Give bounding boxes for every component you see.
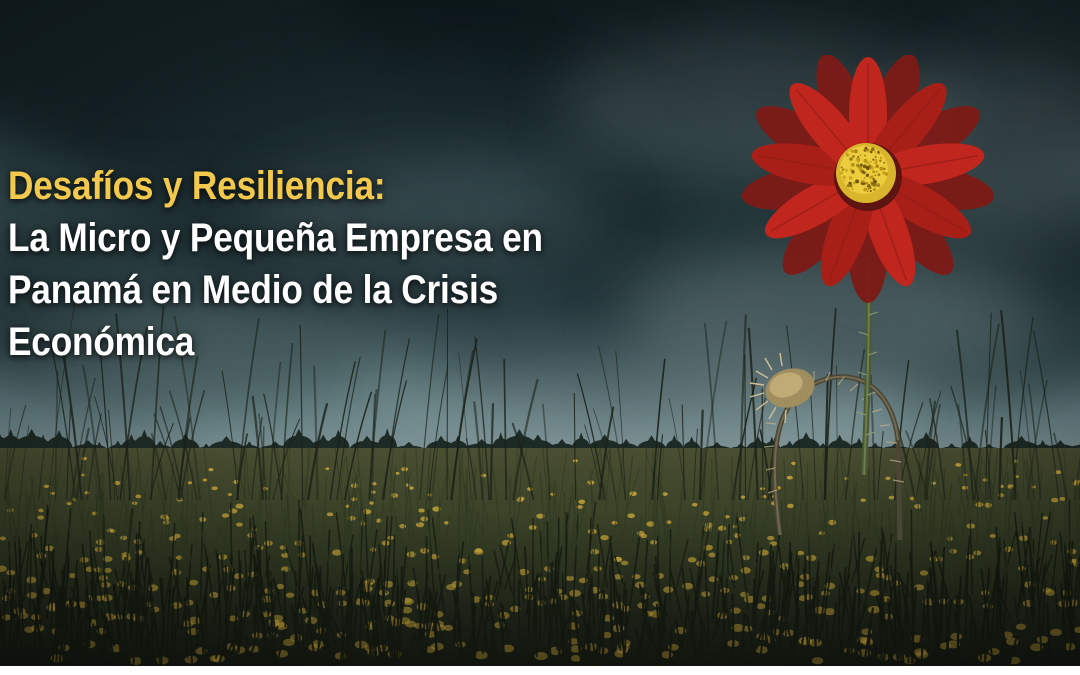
title-line-2: Panamá en Medio de la Crisis	[8, 264, 501, 316]
banner-title-block: Desafíos y Resiliencia: La Micro y Peque…	[8, 160, 568, 368]
article-hero-banner: Desafíos y Resiliencia: La Micro y Peque…	[0, 0, 1080, 675]
title-line-1: La Micro y Pequeña Empresa en	[8, 212, 501, 264]
bottom-white-strip	[0, 666, 1080, 675]
title-line-3: Económica	[8, 316, 501, 368]
title-accent-line: Desafíos y Resiliencia:	[8, 160, 501, 212]
red-cosmos-flower	[740, 55, 1020, 475]
